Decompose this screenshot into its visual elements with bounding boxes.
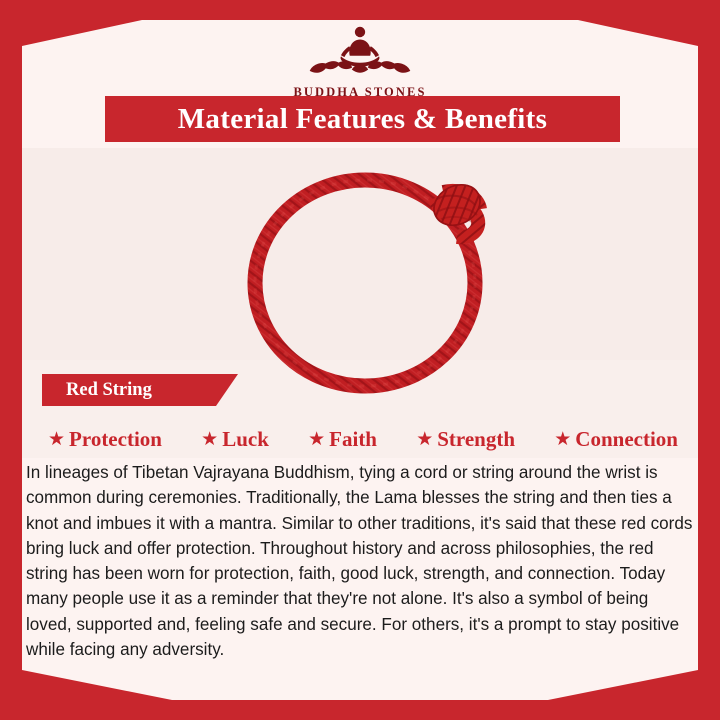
frame-right-border <box>698 0 720 720</box>
benefit-item: ★ Luck <box>201 427 269 452</box>
infographic-page: BUDDHA STONES Material Features & Benefi… <box>0 0 720 720</box>
star-icon: ★ <box>554 430 571 449</box>
benefit-item: ★ Faith <box>308 427 377 452</box>
benefit-label: Protection <box>69 427 162 452</box>
benefit-label: Luck <box>222 427 269 452</box>
star-icon: ★ <box>48 430 65 449</box>
benefit-label: Connection <box>575 427 678 452</box>
benefit-label: Faith <box>329 427 377 452</box>
star-icon: ★ <box>416 430 433 449</box>
lotus-meditation-figure-icon <box>304 22 416 82</box>
frame-bottom-border <box>0 700 720 720</box>
frame-left-border <box>0 0 22 720</box>
product-label-tab: Red String <box>42 374 238 406</box>
benefit-item: ★ Connection <box>554 427 678 452</box>
star-icon: ★ <box>201 430 218 449</box>
benefits-row: ★ Protection ★ Luck ★ Faith ★ Strength ★… <box>48 420 678 458</box>
page-title: Material Features & Benefits <box>178 103 547 136</box>
product-image-red-string-bracelet <box>225 155 515 405</box>
frame-top-border <box>0 0 720 20</box>
brand-logo: BUDDHA STONES <box>0 22 720 100</box>
benefit-label: Strength <box>437 427 515 452</box>
benefit-item: ★ Strength <box>416 427 515 452</box>
star-icon: ★ <box>308 430 325 449</box>
benefit-item: ★ Protection <box>48 427 162 452</box>
product-label: Red String <box>66 380 152 401</box>
description-paragraph: In lineages of Tibetan Vajrayana Buddhis… <box>26 460 696 662</box>
title-banner: Material Features & Benefits <box>105 96 620 142</box>
